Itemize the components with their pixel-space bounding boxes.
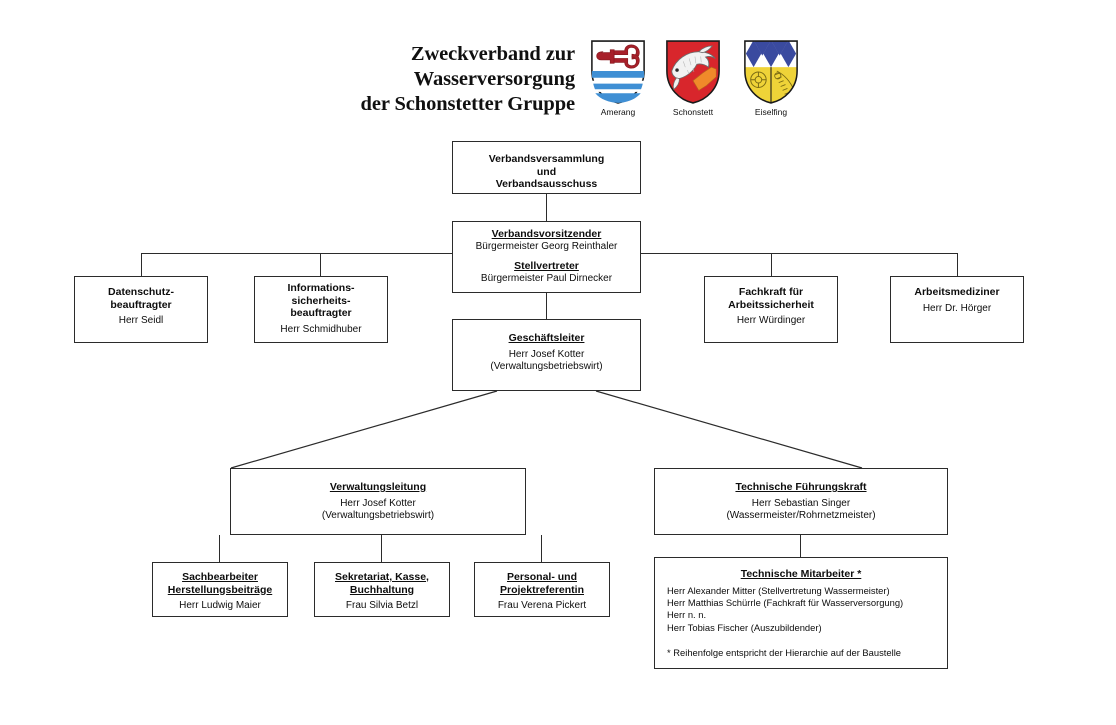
node-clerk-contributions-title-line-2: Herstellungsbeiträge (153, 584, 287, 597)
node-technical-lead-title: Technische Führungskraft (655, 481, 947, 494)
org-chart-page: Zweckverband zur Wasserversorgung der Sc… (0, 0, 1116, 725)
node-occupational-physician-title: Arbeitsmediziner (891, 286, 1023, 299)
node-technical-lead-qualification: (Wassermeister/Rohrnetzmeister) (655, 510, 947, 523)
list-item: Herr Matthias Schürrle (Fachkraft für Wa… (667, 597, 941, 609)
node-work-safety-title-line-1: Fachkraft für (705, 286, 837, 299)
node-technical-staff-title: Technische Mitarbeiter * (655, 568, 947, 581)
node-info-security-title-line-1: Informations- (255, 282, 387, 295)
node-technical-lead-person: Herr Sebastian Singer (655, 498, 947, 511)
node-assembly-title-line-2: und (453, 166, 640, 179)
node-clerk-contributions[interactable]: Sachbearbeiter Herstellungsbeiträge Herr… (152, 562, 288, 617)
node-data-protection-title-line-1: Datenschutz- (75, 286, 207, 299)
connector-drop-personnel-project (541, 535, 542, 562)
node-info-security-title-line-2: sicherheits- (255, 295, 387, 308)
node-work-safety-person: Herr Würdinger (705, 315, 837, 328)
node-technical-staff-footnote: * Reihenfolge entspricht der Hierarchie … (667, 647, 941, 659)
node-administration-lead[interactable]: Verwaltungsleitung Herr Josef Kotter (Ve… (230, 468, 526, 535)
node-secretariat-title-line-1: Sekretariat, Kasse, (315, 571, 449, 584)
list-item: Herr n. n. (667, 609, 941, 621)
node-technical-staff[interactable]: Technische Mitarbeiter * Herr Alexander … (654, 557, 948, 669)
node-administration-lead-person: Herr Josef Kotter (231, 498, 525, 511)
list-item: Herr Alexander Mitter (Stellvertretung W… (667, 585, 941, 597)
node-technical-lead[interactable]: Technische Führungskraft Herr Sebastian … (654, 468, 948, 535)
node-data-protection-person: Herr Seidl (75, 315, 207, 328)
node-info-security-person: Herr Schmidhuber (255, 324, 387, 337)
node-chairman-role-2: Stellvertreter (453, 260, 640, 273)
node-occupational-physician[interactable]: Arbeitsmediziner Herr Dr. Hörger (890, 276, 1024, 343)
connector-drop-clerk-contributions (219, 535, 220, 562)
node-chairman-role-1: Verbandsvorsitzender (453, 228, 640, 241)
node-assembly-title-line-1: Verbandsversammlung (453, 153, 640, 166)
node-data-protection-officer[interactable]: Datenschutz- beauftragter Herr Seidl (74, 276, 208, 343)
node-chairman[interactable]: Verbandsvorsitzender Bürgermeister Georg… (452, 221, 641, 293)
node-secretariat-person: Frau Silvia Betzl (315, 600, 449, 613)
node-managing-director-person: Herr Josef Kotter (453, 349, 640, 362)
node-chairman-person-1: Bürgermeister Georg Reinthaler (453, 241, 640, 254)
node-personnel-project-officer[interactable]: Personal- und Projektreferentin Frau Ver… (474, 562, 610, 617)
list-item: Herr Tobias Fischer (Auszubildender) (667, 622, 941, 634)
node-managing-director[interactable]: Geschäftsleiter Herr Josef Kotter (Verwa… (452, 319, 641, 391)
node-work-safety-title-line-2: Arbeitssicherheit (705, 299, 837, 312)
node-administration-lead-qualification: (Verwaltungsbetriebswirt) (231, 510, 525, 523)
node-secretariat[interactable]: Sekretariat, Kasse, Buchhaltung Frau Sil… (314, 562, 450, 617)
node-clerk-contributions-title-line-1: Sachbearbeiter (153, 571, 287, 584)
connector-technical-lead-to-staff (800, 535, 801, 557)
node-administration-lead-title: Verwaltungsleitung (231, 481, 525, 494)
connector-drop-secretariat (381, 535, 382, 562)
node-personnel-project-title-line-2: Projektreferentin (475, 584, 609, 597)
node-info-security-title-line-3: beauftragter (255, 307, 387, 320)
node-work-safety-specialist[interactable]: Fachkraft für Arbeitssicherheit Herr Wür… (704, 276, 838, 343)
node-personnel-project-person: Frau Verena Pickert (475, 600, 609, 613)
node-technical-staff-list: Herr Alexander Mitter (Stellvertretung W… (655, 585, 947, 660)
node-clerk-contributions-person: Herr Ludwig Maier (153, 600, 287, 613)
node-occupational-physician-person: Herr Dr. Hörger (891, 303, 1023, 316)
node-information-security-officer[interactable]: Informations- sicherheits- beauftragter … (254, 276, 388, 343)
node-secretariat-title-line-2: Buchhaltung (315, 584, 449, 597)
node-data-protection-title-line-2: beauftragter (75, 299, 207, 312)
node-assembly-title-line-3: Verbandsausschuss (453, 178, 640, 191)
node-managing-director-qualification: (Verwaltungsbetriebswirt) (453, 361, 640, 374)
node-assembly[interactable]: Verbandsversammlung und Verbandsausschus… (452, 141, 641, 194)
node-managing-director-title: Geschäftsleiter (453, 332, 640, 345)
node-chairman-person-2: Bürgermeister Paul Dirnecker (453, 273, 640, 286)
node-personnel-project-title-line-1: Personal- und (475, 571, 609, 584)
